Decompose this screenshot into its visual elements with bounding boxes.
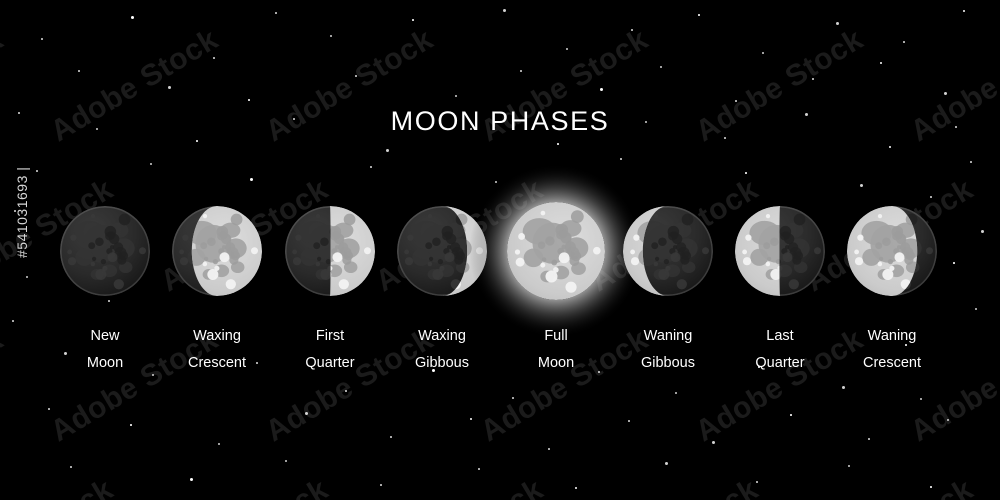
moon-disc-waxing-crescent: [161, 195, 273, 307]
moon-phases-infographic: Adobe StockAdobe StockAdobe StockAdobe S…: [0, 0, 1000, 500]
phase-label-line1: First: [316, 328, 344, 344]
phase-item-waning-crescent[interactable]: WaningCrescent: [836, 195, 948, 307]
moon-graphic-waxing-crescent: [161, 195, 273, 307]
phase-label-line2: Crescent: [822, 350, 962, 377]
moon-graphic-last-quarter: [724, 195, 836, 307]
phase-item-first-quarter[interactable]: FirstQuarter: [274, 195, 386, 307]
moon-graphic-first-quarter: [274, 195, 386, 307]
moon-graphic-new-moon: [49, 195, 161, 307]
phase-item-waning-gibbous[interactable]: WaningGibbous: [612, 195, 724, 307]
moon-disc-waning-crescent: [836, 195, 948, 307]
phase-item-last-quarter[interactable]: LastQuarter: [724, 195, 836, 307]
phase-item-full-moon[interactable]: FullMoon: [500, 195, 612, 307]
phase-label-line1: Waxing: [193, 328, 241, 344]
page-title: MOON PHASES: [0, 106, 1000, 137]
moon-disc-waning-gibbous: [612, 195, 724, 307]
moon-disc-full-moon: [500, 195, 612, 307]
moon-disc-last-quarter: [724, 195, 836, 307]
phase-label-line1: New: [90, 328, 119, 344]
moon-disc-first-quarter: [274, 195, 386, 307]
phase-caption-waning-crescent: WaningCrescent: [822, 323, 962, 377]
moon-graphic-full-moon: [500, 195, 612, 307]
phase-label-line1: Waning: [868, 328, 917, 344]
moon-graphic-waning-gibbous: [612, 195, 724, 307]
phase-list: NewMoonWaxingCrescentFirstQuarterWaxingG…: [0, 0, 1000, 500]
phase-label-line1: Waning: [644, 328, 693, 344]
phase-item-new-moon[interactable]: NewMoon: [49, 195, 161, 307]
phase-label-line1: Full: [544, 328, 567, 344]
stock-id-label: #541031693 |: [14, 167, 30, 258]
moon-graphic-waning-crescent: [836, 195, 948, 307]
moon-disc-new-moon: [49, 195, 161, 307]
phase-label-line1: Last: [766, 328, 793, 344]
phase-label-line1: Waxing: [418, 328, 466, 344]
phase-item-waxing-crescent[interactable]: WaxingCrescent: [161, 195, 273, 307]
